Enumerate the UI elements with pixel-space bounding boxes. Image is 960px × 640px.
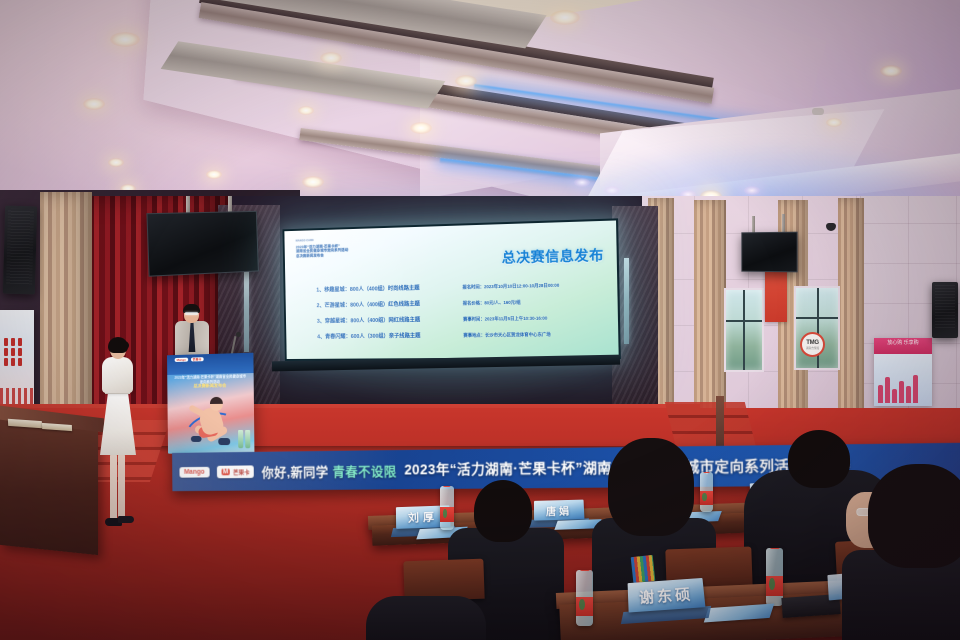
slide-body: 1、移趣星城：800人（400组）时尚线路主题 2、芒游星城：800人（400组… [316, 283, 608, 351]
downlight-icon [110, 32, 140, 47]
slide-corner-line-3: 总决赛新闻发布会 [296, 252, 348, 258]
downlight-icon [83, 98, 105, 110]
podium-bottle-graphic [238, 430, 250, 448]
downlight-icon [604, 186, 620, 195]
tmg-window-sign: TMG 湖南台传媒 [800, 332, 825, 357]
slide-right-item: 报名时间：2023年10月10日12:00-10月28日00:00 [462, 283, 606, 290]
podium-logos: Mango 芒果卡 [175, 357, 204, 362]
wall-speaker-right [932, 282, 958, 338]
woman-hair-bun [120, 341, 129, 350]
slide-left-item: 4、青春闪耀：600人（300组）亲子线路主题 [317, 334, 449, 341]
banner-logo-mangocard: M 芒果卡 [216, 465, 254, 478]
pillar-inlay-left [244, 262, 249, 352]
microphone-icon [236, 332, 241, 337]
chair-back [403, 559, 484, 602]
standing-woman [96, 340, 138, 562]
podium-runner-graphic [185, 398, 241, 451]
podium: Mango 芒果卡 2023年“活力湖南·芒果卡杯”湖南省全民健身城市定向系列活… [167, 353, 254, 455]
hanging-monitor-right [741, 232, 797, 273]
hanging-monitor-left [146, 211, 258, 277]
conference-hall-photo: TMG 湖南台传媒 禁止吸烟 注意安全 保持安静 爱护环境 放心购 乐享购 [0, 0, 960, 640]
slide-left-column: 1、移趣星城：800人（400组）时尚线路主题 2、芒游星城：800人（400组… [316, 286, 449, 351]
slide-left-item: 1、移趣星城：800人（400组）时尚线路主题 [316, 286, 448, 294]
downlight-icon [455, 75, 477, 87]
slide-corner-logo: MANGO CARD 2023年“活力湖南·芒果卡杯” 湖南省全民健身城市定向系… [296, 238, 349, 258]
downlight-icon [880, 65, 902, 77]
slide-right-item: 赛事地点：长沙市天心区贺龙体育中心东广场 [463, 332, 607, 338]
podium-title: 2023年“活力湖南·芒果卡杯”湖南省全民健身城市定向系列活动 总决赛新闻发布会 [173, 374, 248, 389]
window-right [794, 286, 840, 370]
downlight-icon [410, 122, 432, 134]
poster-left-wall [0, 310, 34, 410]
led-screen-frame: MANGO CARD 2023年“活力湖南·芒果卡杯” 湖南省全民健身城市定向系… [282, 218, 620, 361]
slide-right-column: 报名时间：2023年10月10日12:00-10月28日00:00 报名价格：8… [462, 283, 607, 350]
audience-person-foreground [366, 596, 486, 640]
downlight-icon [206, 170, 222, 179]
led-screen-content: MANGO CARD 2023年“活力湖南·芒果卡杯” 湖南省全民健身城市定向系… [284, 220, 618, 359]
audience-person-front [842, 464, 960, 640]
smoke-detector-icon [812, 108, 824, 115]
downlight-icon [550, 10, 580, 25]
downlight-icon [108, 158, 124, 167]
woman-leg-left [110, 453, 117, 521]
poster-right-wall: 放心购 乐享购 [874, 338, 932, 406]
woman-top [102, 357, 133, 393]
poster-right-figures [878, 375, 918, 403]
side-table [0, 413, 98, 555]
downlight-icon [320, 52, 342, 64]
slide-title: 总决赛信息发布 [502, 244, 605, 267]
downlight-icon [302, 176, 324, 188]
window-left [724, 288, 764, 372]
banner-logo-mark: M [221, 468, 230, 475]
slide-right-item: 赛事时间：2023年11月5日上午10:30-16:00 [463, 315, 607, 321]
pillar-inlay-right [624, 258, 629, 344]
podium-title-big: 总决赛新闻发布会 [173, 383, 248, 389]
downlight-icon [826, 118, 842, 127]
downlight-icon [298, 106, 314, 115]
banner-logo-mango: Mango [179, 466, 209, 477]
tmg-sign-sub: 湖南台传媒 [806, 346, 819, 350]
podium-logo-1: Mango [175, 358, 188, 362]
presenter-glasses-icon [185, 312, 198, 315]
poster-left-marks [4, 338, 22, 366]
slide-left-item: 3、穿越星城：800人（400组）网红线路主题 [317, 318, 449, 325]
woman-shoe-right [118, 516, 134, 523]
pen-holder [631, 555, 656, 583]
curtain-beige-right-3 [838, 198, 864, 424]
water-bottle [576, 570, 593, 626]
wall-speaker-left [3, 206, 37, 295]
woman-skirt [100, 393, 136, 455]
downlight-icon [574, 178, 590, 187]
name-placard: 谢东硕 [628, 578, 706, 613]
banner-slogan: 你好,新同学 青春不设限 [262, 460, 397, 480]
poster-right-title: 放心购 乐享购 [874, 338, 932, 347]
banner-slogan-a: 你好,新同学 [262, 464, 329, 479]
slide-left-item: 2、芒游星城：800人（400组）红色线路主题 [317, 302, 449, 310]
woman-leg-right [118, 453, 125, 521]
downlight-icon [744, 186, 760, 195]
poster-right-header: 放心购 乐享购 [874, 338, 932, 354]
banner-logo-sub: 芒果卡 [233, 467, 250, 476]
banner-slogan-b: 青春不设限 [332, 463, 396, 478]
podium-logo-2: 芒果卡 [191, 357, 204, 361]
podium-header-band [167, 353, 254, 375]
banner-logo-text: Mango [184, 468, 205, 475]
slide-right-item: 报名价格：80元/人、160元/组 [463, 299, 607, 306]
